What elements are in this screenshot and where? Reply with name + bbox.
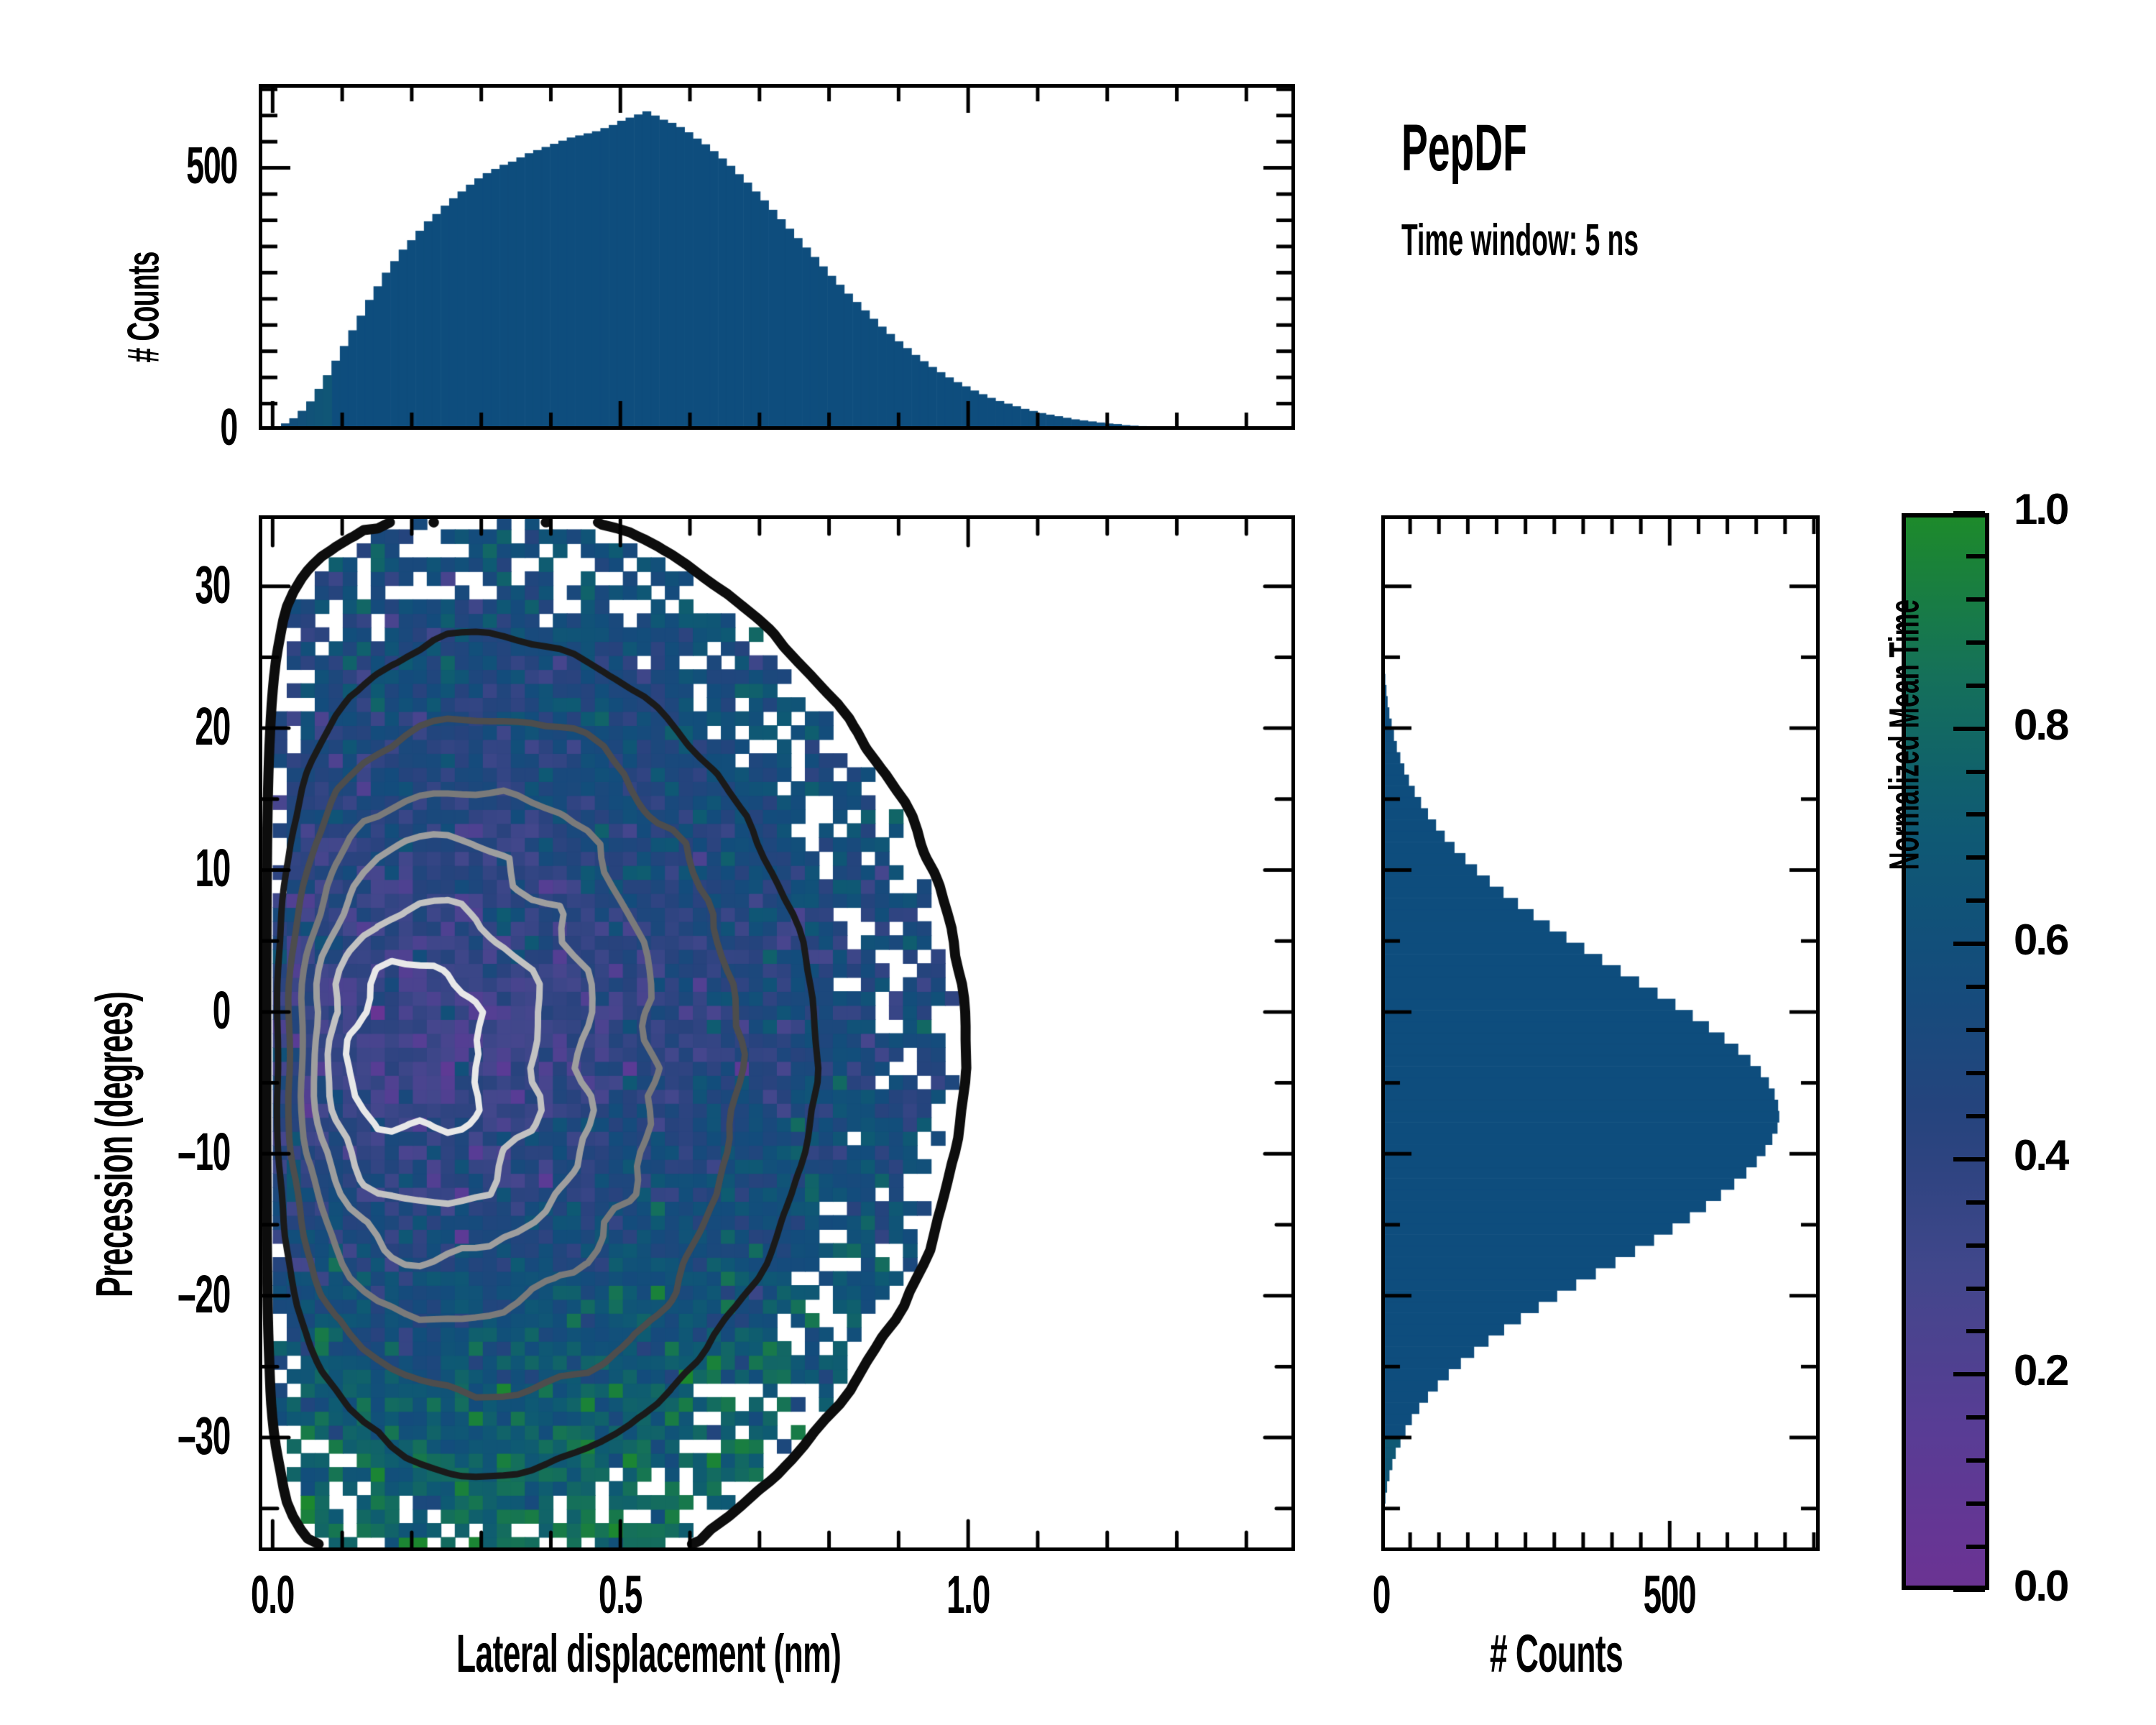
colorbar-axis-label: Normalized Mean Time — [1881, 213, 1929, 1076]
colorbar-tick-label: 0.6 — [2014, 915, 2067, 965]
page-title: PepDF — [1401, 115, 1797, 181]
colorbar-tick-label: 1.0 — [2014, 484, 2067, 534]
right-hist-axis-label: # Counts — [1381, 1623, 1820, 1684]
colorbar-tick-mark — [1966, 1501, 1985, 1506]
top-marginal-histogram — [259, 84, 1295, 430]
right-hist-tick-label: 0 — [1310, 1564, 1452, 1625]
colorbar-tick-mark — [1953, 942, 1985, 946]
colorbar-tick-mark — [1966, 1287, 1985, 1291]
joint-y-tick-label: 10 — [60, 837, 230, 898]
colorbar-tick-mark — [1966, 684, 1985, 688]
colorbar-label-text: Normalized Mean Time — [1881, 599, 1929, 870]
joint-y-tick-label: –20 — [60, 1264, 230, 1325]
colorbar-tick-label: 0.8 — [2014, 700, 2067, 750]
joint-heatmap — [259, 515, 1295, 1551]
title-block: PepDF Time window: 5 ns — [1401, 115, 1797, 263]
right-hist-xlabel-text: # Counts — [1490, 1623, 1623, 1684]
colorbar-tick-label: 0.0 — [2014, 1561, 2067, 1611]
colorbar-tick-mark — [1966, 1545, 1985, 1549]
right-hist-tick-label: 500 — [1598, 1564, 1741, 1625]
colorbar-tick-label: 0.4 — [2014, 1131, 2067, 1180]
figure-canvas: PepDF Time window: 5 ns # Counts 0500 Pr… — [0, 0, 2156, 1725]
colorbar-tick-mark — [1966, 1028, 1985, 1032]
colorbar-tick-mark — [1966, 812, 1985, 816]
colorbar-tick-mark — [1953, 511, 1985, 515]
top-hist-tick-label: 500 — [148, 137, 237, 195]
joint-x-axis-label: Lateral displacement (nm) — [259, 1623, 1295, 1684]
colorbar-tick-mark — [1966, 855, 1985, 860]
joint-x-tick-label: 0.0 — [201, 1564, 344, 1625]
colorbar-tick-mark — [1966, 1243, 1985, 1248]
colorbar-tick-mark — [1966, 985, 1985, 989]
colorbar-tick-mark — [1953, 1588, 1985, 1592]
joint-y-tick-label: 0 — [60, 980, 230, 1041]
main-title-text: PepDF — [1401, 115, 1527, 181]
colorbar-tick-mark — [1966, 1200, 1985, 1205]
top-hist-tick-label: 0 — [148, 398, 237, 457]
subtitle: Time window: 5 ns — [1401, 218, 1797, 263]
joint-x-tick-label: 0.5 — [549, 1564, 691, 1625]
right-marginal-histogram — [1381, 515, 1820, 1551]
colorbar-tick-mark — [1966, 640, 1985, 645]
colorbar-tick-mark — [1966, 1415, 1985, 1420]
colorbar-tick-mark — [1966, 1458, 1985, 1463]
joint-y-tick-label: –10 — [60, 1121, 230, 1182]
colorbar-tick-mark — [1966, 1071, 1985, 1075]
colorbar-tick-label: 0.2 — [2014, 1345, 2067, 1395]
subtitle-text: Time window: 5 ns — [1401, 218, 1639, 263]
colorbar-tick-mark — [1966, 597, 1985, 602]
joint-xlabel-text: Lateral displacement (nm) — [456, 1623, 841, 1684]
colorbar-tick-mark — [1966, 1114, 1985, 1118]
colorbar-tick-mark — [1966, 770, 1985, 774]
colorbar-tick-mark — [1966, 554, 1985, 558]
joint-y-tick-label: –30 — [60, 1405, 230, 1466]
top-hist-ylabel-text: # Counts — [119, 252, 170, 362]
joint-y-tick-label: 20 — [60, 696, 230, 757]
colorbar-tick-mark — [1953, 1372, 1985, 1376]
colorbar-tick-mark — [1953, 727, 1985, 731]
joint-y-tick-label: 30 — [60, 554, 230, 615]
colorbar-tick-mark — [1966, 1329, 1985, 1333]
colorbar-tick-mark — [1966, 898, 1985, 903]
colorbar-tick-mark — [1953, 1157, 1985, 1161]
joint-x-tick-label: 1.0 — [897, 1564, 1039, 1625]
